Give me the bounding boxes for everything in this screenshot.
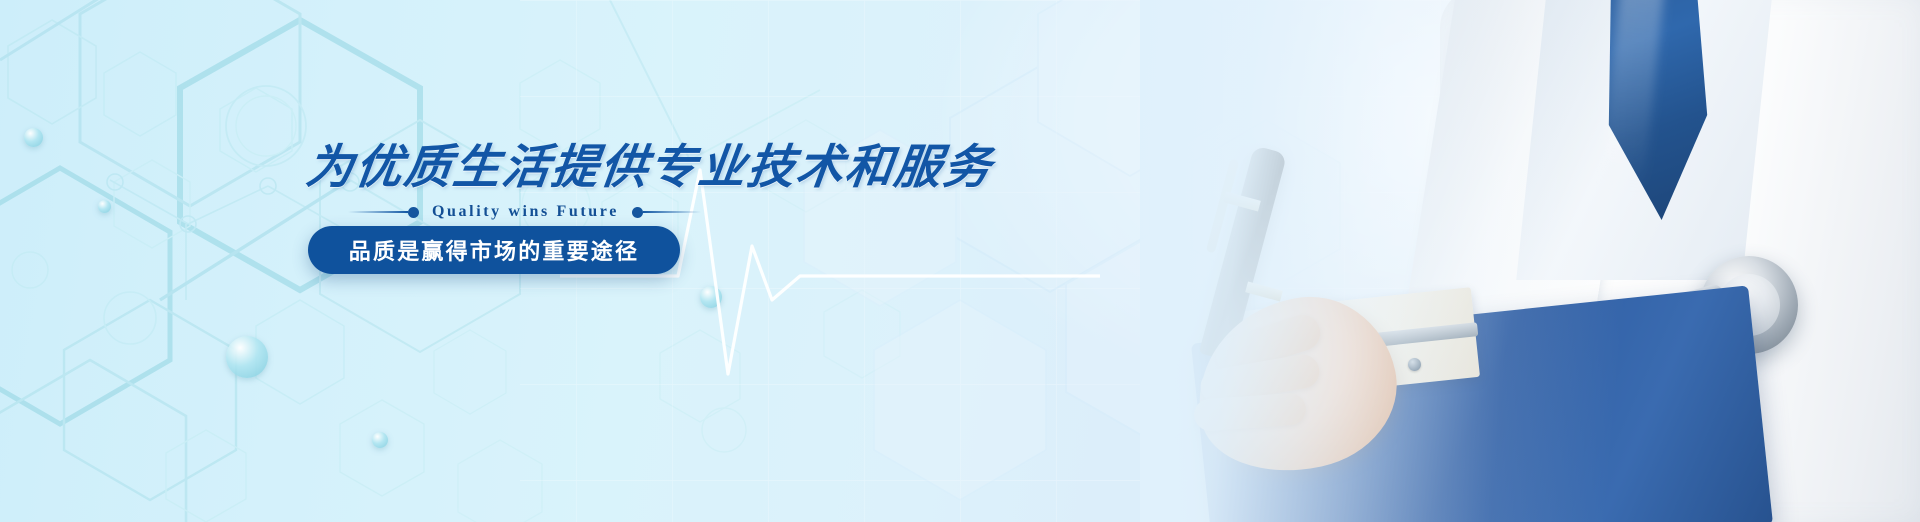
- tagline-dot-left-icon: [408, 207, 419, 218]
- banner-headline: 为优质生活提供专业技术和服务: [303, 128, 997, 197]
- banner-content: 为优质生活提供专业技术和服务 Quality wins Future 品质是赢得…: [0, 0, 1000, 522]
- hero-banner: 为优质生活提供专业技术和服务 Quality wins Future 品质是赢得…: [0, 0, 1920, 522]
- doctor-photo: [1140, 0, 1920, 522]
- banner-tagline: Quality wins Future: [419, 203, 632, 221]
- photo-fade-overlay: [1140, 0, 1920, 522]
- tagline-row: Quality wins Future: [348, 203, 701, 221]
- slogan-pill-label: 品质是赢得市场的重要途径: [349, 234, 639, 266]
- slogan-pill-button[interactable]: 品质是赢得市场的重要途径: [308, 226, 680, 274]
- tagline-rule-left: [348, 211, 408, 213]
- tagline-dot-right-icon: [632, 207, 643, 218]
- tagline-rule-right: [643, 211, 701, 213]
